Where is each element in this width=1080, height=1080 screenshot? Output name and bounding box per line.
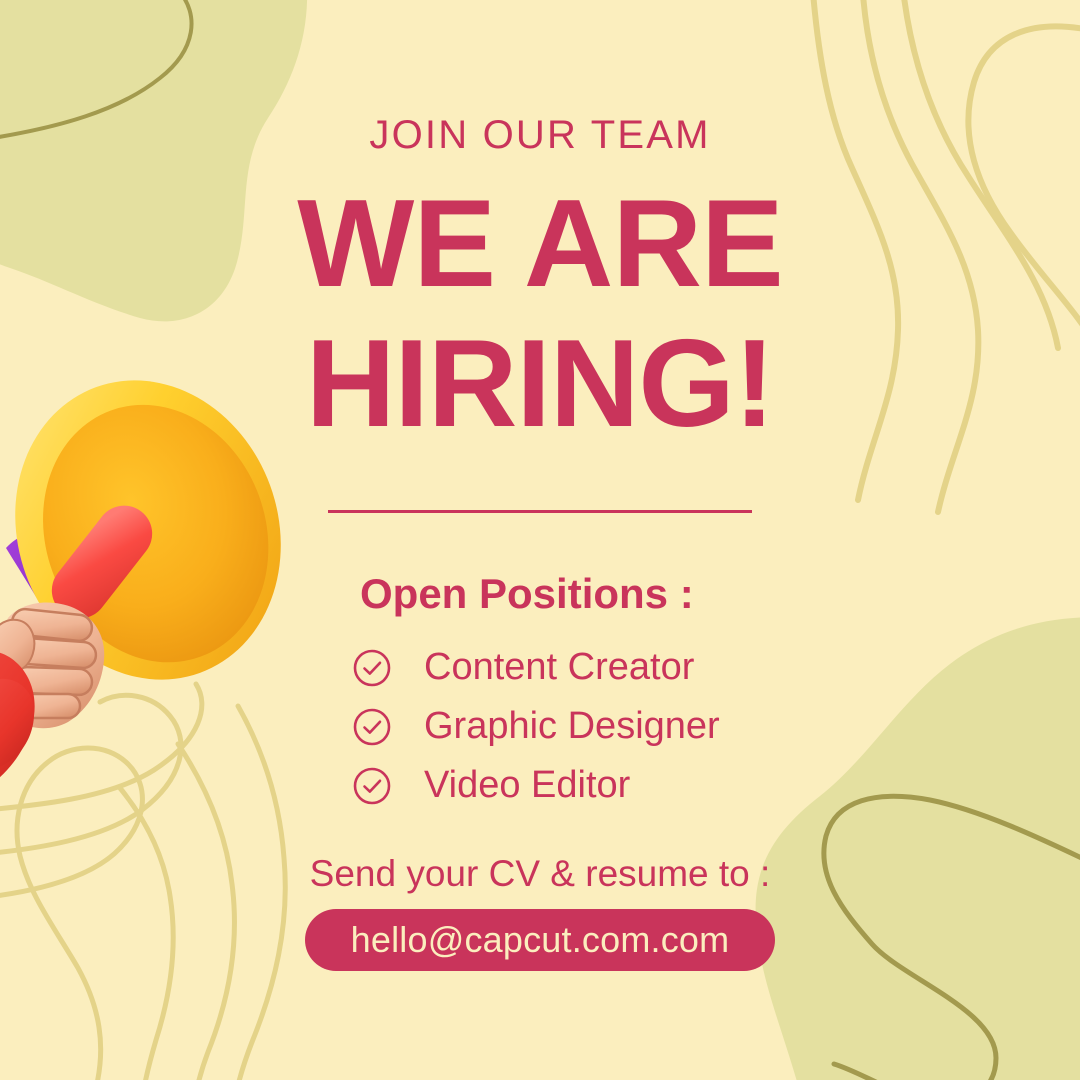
email-address: hello@capcut.com.com bbox=[351, 919, 730, 961]
list-item: Content Creator bbox=[352, 638, 832, 697]
list-item: Graphic Designer bbox=[352, 697, 832, 756]
headline-line-2: HIRING! bbox=[0, 325, 1080, 443]
headline-line-1: WE ARE bbox=[0, 185, 1080, 303]
email-button[interactable]: hello@capcut.com.com bbox=[305, 909, 775, 971]
eyebrow-text: JOIN OUR TEAM bbox=[0, 113, 1080, 158]
check-circle-icon bbox=[352, 766, 392, 806]
position-label: Video Editor bbox=[424, 764, 630, 807]
list-item: Video Editor bbox=[352, 756, 832, 815]
open-positions-heading: Open Positions : bbox=[360, 570, 694, 618]
poster-content: JOIN OUR TEAM WE ARE HIRING! Open Positi… bbox=[0, 0, 1080, 1080]
open-positions-list: Content Creator Graphic Designer Video E… bbox=[352, 638, 832, 815]
position-label: Content Creator bbox=[424, 646, 694, 689]
divider-rule bbox=[328, 510, 752, 513]
hiring-poster: JOIN OUR TEAM WE ARE HIRING! Open Positi… bbox=[0, 0, 1080, 1080]
cta-instruction-text: Send your CV & resume to : bbox=[0, 853, 1080, 895]
check-circle-icon bbox=[352, 707, 392, 747]
position-label: Graphic Designer bbox=[424, 705, 720, 748]
check-circle-icon bbox=[352, 648, 392, 688]
